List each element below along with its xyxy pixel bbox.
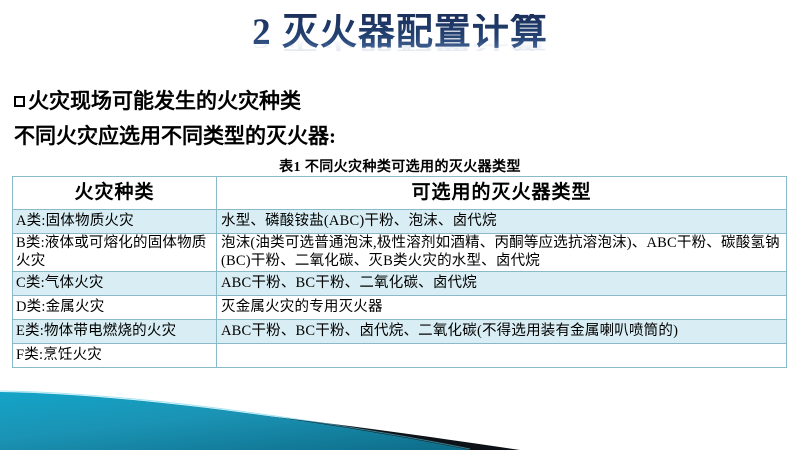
- bullet-text-2: 不同火灾应选用不同类型的灭火器:: [14, 124, 336, 148]
- table-row: B类:液体或可熔化的固体物质火灾 泡沫(油类可选普通泡沫,极性溶剂如酒精、丙酮等…: [13, 234, 787, 272]
- table-row: D类:金属火灾 灭金属火灾的专用灭火器: [13, 296, 787, 320]
- table-row: F类:烹饪火灾: [13, 344, 787, 368]
- square-bullet-icon: [14, 96, 25, 107]
- cell-types: ABC干粉、BC干粉、卤代烷、二氧化碳(不得选用装有金属喇叭喷筒的): [217, 320, 787, 344]
- swoosh-dark-ribbon: [0, 396, 520, 450]
- swoosh-teal-wedge: [0, 392, 470, 450]
- swoosh-svg: [0, 386, 800, 450]
- cell-types: [217, 344, 787, 368]
- table-caption: 表1 不同火灾种类可选用的灭火器类型: [0, 156, 800, 176]
- table-body: A类:固体物质火灾 水型、磷酸铵盐(ABC)干粉、泡沫、卤代烷 B类:液体或可熔…: [13, 210, 787, 368]
- cell-category: E类:物体带电燃烧的火灾: [13, 320, 217, 344]
- swoosh-light-layer: [0, 412, 500, 450]
- cell-category: F类:烹饪火灾: [13, 344, 217, 368]
- slide-canvas: 2 灭火器配置计算2 灭火器配置计算 火灾现场可能发生的火灾种类 不同火灾应选用…: [0, 0, 800, 450]
- table-header-extinguisher-types: 可选用的灭火器类型: [217, 177, 787, 210]
- cell-category: A类:固体物质火灾: [13, 210, 217, 234]
- title-container: 2 灭火器配置计算2 灭火器配置计算: [0, 14, 800, 51]
- bullet-line-2: 不同火灾应选用不同类型的灭火器:: [14, 120, 336, 150]
- cell-types: ABC干粉、BC干粉、二氧化碳、卤代烷: [217, 272, 787, 296]
- table-head: 火灾种类 可选用的灭火器类型: [13, 177, 787, 210]
- cell-types: 灭金属火灾的专用灭火器: [217, 296, 787, 320]
- cell-category: C类:气体火灾: [13, 272, 217, 296]
- bullet-text-1: 火灾现场可能发生的火灾种类: [28, 89, 301, 113]
- table-row: C类:气体火灾 ABC干粉、BC干粉、二氧化碳、卤代烷: [13, 272, 787, 296]
- table-row: E类:物体带电燃烧的火灾 ABC干粉、BC干粉、卤代烷、二氧化碳(不得选用装有金…: [13, 320, 787, 344]
- table-header-row: 火灾种类 可选用的灭火器类型: [13, 177, 787, 210]
- cell-category: B类:液体或可熔化的固体物质火灾: [13, 234, 217, 272]
- swoosh-highlight-edge: [0, 391, 470, 449]
- table-header-fire-class: 火灾种类: [13, 177, 217, 210]
- table-row: A类:固体物质火灾 水型、磷酸铵盐(ABC)干粉、泡沫、卤代烷: [13, 210, 787, 234]
- page-title: 2 灭火器配置计算2 灭火器配置计算: [252, 14, 548, 51]
- cell-types: 泡沫(油类可选普通泡沫,极性溶剂如酒精、丙酮等应选抗溶泡沫)、ABC干粉、碳酸氢…: [217, 234, 787, 272]
- fire-class-extinguisher-table: 火灾种类 可选用的灭火器类型 A类:固体物质火灾 水型、磷酸铵盐(ABC)干粉、…: [12, 176, 787, 368]
- bullet-line-1: 火灾现场可能发生的火灾种类: [14, 85, 301, 115]
- cell-category: D类:金属火灾: [13, 296, 217, 320]
- decorative-swoosh: [0, 386, 800, 450]
- title-reflection: 2 灭火器配置计算: [252, 34, 548, 51]
- cell-types: 水型、磷酸铵盐(ABC)干粉、泡沫、卤代烷: [217, 210, 787, 234]
